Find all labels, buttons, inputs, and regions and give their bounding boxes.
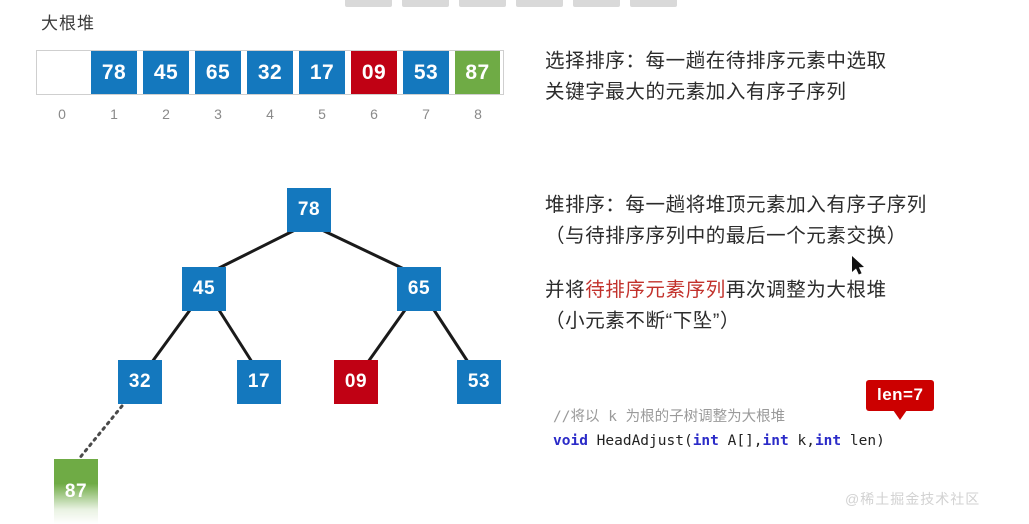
note-adjust-suffix: 再次调整为大根堆 — [726, 279, 887, 301]
array-index: 0 — [36, 106, 88, 122]
array-index: 4 — [244, 106, 296, 122]
array-cell-value: 45 — [143, 51, 189, 94]
array-index: 3 — [192, 106, 244, 122]
array-cell-8: 87 — [452, 50, 504, 95]
tree-node-32: 32 — [118, 360, 162, 404]
array-cell-value: 09 — [351, 51, 397, 94]
array-index: 1 — [88, 106, 140, 122]
note-adjust-highlight: 待排序元素序列 — [585, 279, 726, 301]
top-tab-stub-4[interactable] — [516, 0, 563, 7]
tree-node-78: 78 — [287, 188, 331, 232]
array-cell-4: 32 — [244, 50, 296, 95]
note-heap-sort: 堆排序：每一趟将堆顶元素加入有序子序列 （与待排序序列中的最后一个元素交换） — [545, 190, 1015, 252]
array-cell-value: 53 — [403, 51, 449, 94]
code-keyword-int-3: int — [815, 433, 841, 449]
array-cell-value: 87 — [455, 51, 500, 94]
array-cell-value: 65 — [195, 51, 241, 94]
array-cell-6: 09 — [348, 50, 400, 95]
note-adjust-subnote: （小元素不断“下坠”） — [545, 306, 1015, 337]
array-cell-7: 53 — [400, 50, 452, 95]
array-index: 5 — [296, 106, 348, 122]
array-cell-1: 78 — [88, 50, 140, 95]
array-cell-value: 78 — [91, 51, 137, 94]
top-tab-stub-5[interactable] — [573, 0, 620, 7]
array-index-row: 0 1 2 3 4 5 6 7 8 — [36, 106, 504, 122]
len-callout-badge: len=7 — [866, 380, 934, 411]
array-row: 78 45 65 32 17 09 53 87 — [36, 50, 504, 95]
note-adjust-prefix: 并将 — [545, 279, 585, 301]
page-title: 大根堆 — [41, 9, 95, 34]
array-cell-3: 65 — [192, 50, 244, 95]
array-index: 2 — [140, 106, 192, 122]
mouse-cursor-icon — [851, 255, 867, 277]
code-function-name: HeadAdjust( — [588, 433, 693, 449]
tree-node-65: 65 — [397, 267, 441, 311]
watermark: @稀土掘金技术社区 — [845, 489, 980, 509]
code-signature: void HeadAdjust(int A[],int k,int len) — [553, 429, 885, 453]
code-keyword-void: void — [553, 433, 588, 449]
array-cell-value: 32 — [247, 51, 293, 94]
code-keyword-int-2: int — [763, 433, 789, 449]
code-block: //将以 k 为根的子树调整为大根堆 void HeadAdjust(int A… — [553, 405, 885, 453]
array-index: 6 — [348, 106, 400, 122]
array-cell-0 — [36, 50, 88, 95]
code-arg-1: A[], — [719, 433, 763, 449]
array-cell-value: 17 — [299, 51, 345, 94]
top-tab-stub-1[interactable] — [345, 0, 392, 7]
tree-node-87-fading: 87 — [54, 459, 98, 524]
array-index: 7 — [400, 106, 452, 122]
tree-node-53: 53 — [457, 360, 501, 404]
top-tab-stub-2[interactable] — [402, 0, 449, 7]
tree-node-09: 09 — [334, 360, 378, 404]
top-tab-strip — [345, 0, 677, 7]
top-tab-stub-6[interactable] — [630, 0, 677, 7]
array-cell-2: 45 — [140, 50, 192, 95]
slide-canvas: 大根堆 78 45 65 32 17 09 53 87 0 1 2 3 — [0, 0, 1029, 524]
code-keyword-int-1: int — [693, 433, 719, 449]
top-tab-stub-3[interactable] — [459, 0, 506, 7]
array-index: 8 — [452, 106, 504, 122]
code-arg-3: len) — [841, 433, 885, 449]
code-arg-2: k, — [789, 433, 815, 449]
code-comment: //将以 k 为根的子树调整为大根堆 — [553, 405, 885, 429]
tree-node-17: 17 — [237, 360, 281, 404]
array-cell-5: 17 — [296, 50, 348, 95]
note-adjust: 并将待排序元素序列再次调整为大根堆 （小元素不断“下坠”） — [545, 275, 1015, 337]
note-selection-sort: 选择排序：每一趟在待排序元素中选取 关键字最大的元素加入有序子序列 — [545, 46, 1015, 108]
tree-node-45: 45 — [182, 267, 226, 311]
